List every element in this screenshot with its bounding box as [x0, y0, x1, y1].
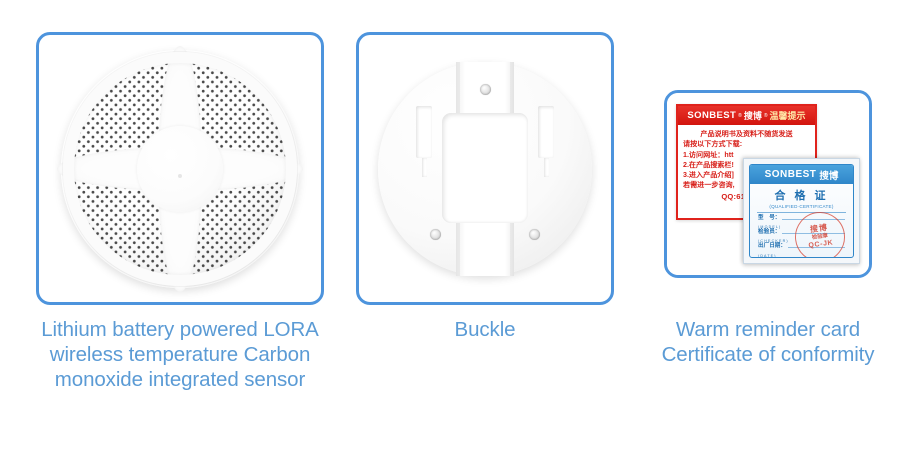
product-image-panel-sensor[interactable] [36, 32, 324, 305]
certificate-inner-frame: SONBEST 搜博 合 格 证 (QUALIFIED·CERTIFICATE)… [749, 164, 854, 258]
buckle-plate [378, 62, 592, 276]
product-gallery: Lithium battery powered LORA wireless te… [0, 0, 900, 464]
certificate-row-checker-rule [782, 233, 845, 234]
buckle-slot-right [538, 106, 554, 158]
red-card-brand-registered-icon: ® [738, 113, 742, 119]
buckle-screw-hole-bottom-right [529, 229, 540, 240]
blue-card-brand: SONBEST [765, 169, 817, 180]
certificate-row-date: 出厂日期： [758, 244, 845, 250]
caption-buckle: Buckle [356, 318, 614, 343]
red-card-line-1: 产品说明书及资料不随货发送 [683, 129, 810, 139]
buckle-slot-left [416, 106, 432, 158]
certificate-title: 合 格 证 [750, 187, 853, 203]
certificate-card-header: SONBEST 搜博 [750, 165, 853, 184]
certificate-row-date-label-en: ( D A T E ) [758, 255, 845, 258]
sensor-image [39, 35, 321, 302]
buckle-screw-hole-bottom-left [430, 229, 441, 240]
certificate-row-model-rule [782, 219, 845, 220]
red-card-line-2: 请按以下方式下载: [683, 139, 810, 149]
caption-cards: Warm reminder card Certificate of confor… [640, 318, 896, 368]
sensor-center-button [137, 126, 223, 212]
certificate-row-checker: 检验员： [758, 230, 845, 236]
certificate-row-date-rule [788, 247, 845, 248]
buckle-center-cutout [442, 113, 528, 223]
red-card-brand-cn: 搜博 [744, 109, 762, 122]
certificate-row-model-label-cn: 型 号： [758, 216, 780, 222]
qualified-certificate-card: SONBEST 搜博 合 格 证 (QUALIFIED·CERTIFICATE)… [743, 158, 860, 264]
red-card-brand-cn-registered-icon: ® [764, 113, 768, 119]
buckle-image [359, 35, 611, 302]
blue-card-brand-cn: 搜博 [819, 168, 838, 182]
red-card-brand: SONBEST [687, 110, 736, 121]
warm-reminder-card-header: SONBEST ® 搜博 ® 温馨提示 [678, 106, 815, 125]
caption-sensor: Lithium battery powered LORA wireless te… [22, 318, 338, 392]
red-card-tip-label: 温馨提示 [770, 109, 806, 122]
buckle-screw-hole-top [480, 84, 491, 95]
certificate-row-checker-label-cn: 检验员： [758, 230, 780, 236]
certificate-subtitle: (QUALIFIED·CERTIFICATE) [750, 204, 853, 209]
cards-image: SONBEST ® 搜博 ® 温馨提示 产品说明书及资料不随货发送 请按以下方式… [667, 93, 869, 275]
certificate-row-model: 型 号： [758, 216, 845, 222]
sensor-disc [61, 50, 299, 288]
product-image-panel-cards[interactable]: SONBEST ® 搜博 ® 温馨提示 产品说明书及资料不随货发送 请按以下方式… [664, 90, 872, 278]
certificate-row-date-label-cn: 出厂日期： [758, 244, 786, 250]
certificate-fields: 型 号： ( M O D E L ) 检验员： ( C H E C K E R … [750, 213, 853, 258]
product-image-panel-buckle[interactable] [356, 32, 614, 305]
